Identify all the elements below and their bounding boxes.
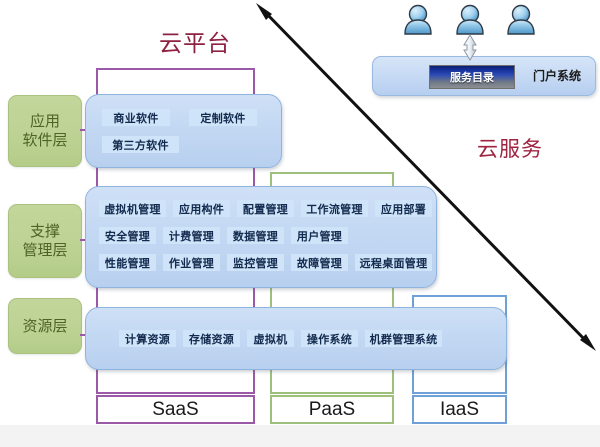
panel-resource-layer: 计算资源 存储资源 虚拟机 操作系统 机群管理系统 bbox=[85, 307, 507, 370]
chip-virtual-machine[interactable]: 虚拟机 bbox=[247, 330, 294, 347]
person-icon bbox=[405, 6, 431, 35]
layer-label-line2: 软件层 bbox=[22, 131, 67, 150]
chip-custom-software[interactable]: 定制软件 bbox=[189, 109, 257, 126]
chip-workflow-management[interactable]: 工作流管理 bbox=[301, 200, 368, 217]
layer-label-line1: 支撑 bbox=[22, 222, 67, 241]
chip-cluster-management-system[interactable]: 机群管理系统 bbox=[365, 330, 442, 347]
service-model-iaas[interactable]: IaaS bbox=[412, 395, 507, 424]
diagram-canvas: 云平台 云服务 应用 软件层 支撑 管理层 资源层 商业软件 定制软件 第三方软… bbox=[0, 0, 600, 447]
sidebar-item-application-software-layer[interactable]: 应用 软件层 bbox=[8, 95, 82, 167]
page-title-cloud-service: 云服务 bbox=[455, 133, 565, 163]
service-model-saas[interactable]: SaaS bbox=[96, 395, 255, 424]
chip-application-component[interactable]: 应用构件 bbox=[173, 200, 230, 217]
panel-application-software-layer: 商业软件 定制软件 第三方软件 bbox=[85, 94, 282, 168]
chip-monitoring-management[interactable]: 监控管理 bbox=[227, 254, 284, 271]
chip-application-deployment[interactable]: 应用部署 bbox=[375, 200, 432, 217]
chip-billing-management[interactable]: 计费管理 bbox=[163, 227, 220, 244]
chip-user-management[interactable]: 用户管理 bbox=[291, 227, 348, 244]
chip-remote-desktop-management[interactable]: 远程桌面管理 bbox=[355, 254, 432, 271]
sidebar-item-resource-layer[interactable]: 资源层 bbox=[8, 298, 82, 354]
portal-system-label: 门户系统 bbox=[525, 67, 589, 84]
chip-security-management[interactable]: 安全管理 bbox=[99, 227, 156, 244]
layer-label-line1: 应用 bbox=[22, 112, 67, 131]
portal-system-panel: 服务目录 门户系统 bbox=[372, 56, 596, 96]
chip-third-party-software[interactable]: 第三方软件 bbox=[102, 136, 179, 153]
service-model-paas[interactable]: PaaS bbox=[270, 395, 394, 424]
chip-commercial-software[interactable]: 商业软件 bbox=[102, 109, 170, 126]
sidebar-item-support-management-layer[interactable]: 支撑 管理层 bbox=[8, 204, 82, 278]
layer-label-line2: 管理层 bbox=[22, 241, 67, 260]
person-icon bbox=[457, 6, 483, 35]
layer-label-line1: 资源层 bbox=[22, 317, 67, 336]
chip-data-management[interactable]: 数据管理 bbox=[227, 227, 284, 244]
chip-vm-management[interactable]: 虚拟机管理 bbox=[99, 200, 166, 217]
chip-configuration-management[interactable]: 配置管理 bbox=[237, 200, 294, 217]
chip-storage-resource[interactable]: 存储资源 bbox=[183, 330, 240, 347]
chip-compute-resource[interactable]: 计算资源 bbox=[119, 330, 176, 347]
page-title-cloud-platform: 云平台 bbox=[140, 24, 250, 58]
chip-operating-system[interactable]: 操作系统 bbox=[301, 330, 358, 347]
panel-support-management-layer: 虚拟机管理 应用构件 配置管理 工作流管理 应用部署 安全管理 计费管理 数据管… bbox=[85, 186, 437, 288]
person-icon bbox=[508, 6, 534, 35]
chip-performance-management[interactable]: 性能管理 bbox=[99, 254, 156, 271]
chip-job-management[interactable]: 作业管理 bbox=[163, 254, 220, 271]
service-catalog-button[interactable]: 服务目录 bbox=[429, 65, 515, 89]
bottom-strip bbox=[0, 425, 600, 447]
chip-fault-management[interactable]: 故障管理 bbox=[291, 254, 348, 271]
